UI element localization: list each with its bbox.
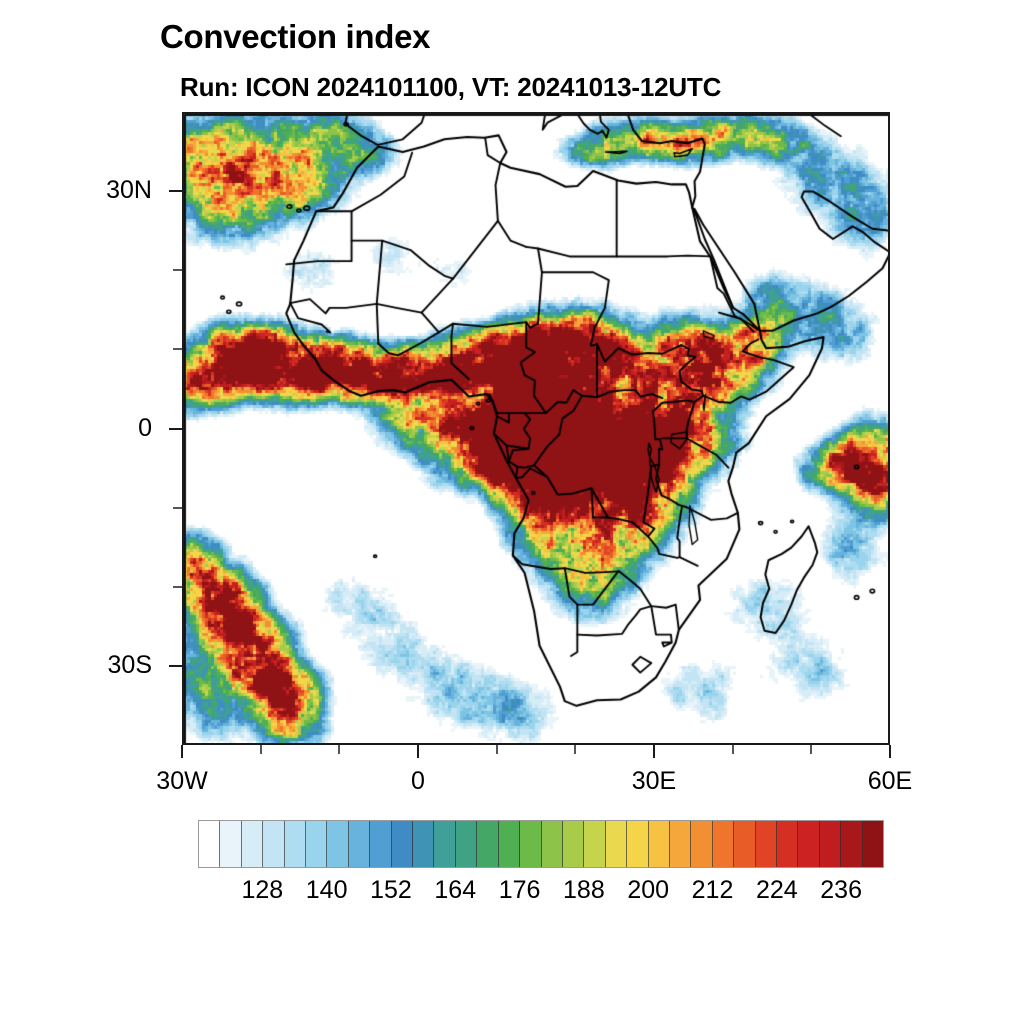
x-tick-minor: [496, 745, 498, 754]
colorbar-cell: [370, 821, 391, 867]
colorbar-cells[interactable]: [198, 820, 884, 868]
colorbar-cell: [863, 821, 883, 867]
colorbar-cell: [713, 821, 734, 867]
colorbar-cell: [649, 821, 670, 867]
y-axis-label: 30N: [32, 176, 152, 205]
colorbar-cell: [456, 821, 477, 867]
map-plot-area[interactable]: [182, 112, 890, 745]
x-axis-label: 30W: [112, 767, 252, 796]
colorbar-cell: [413, 821, 434, 867]
colorbar-cell: [306, 821, 327, 867]
x-tick-major: [653, 745, 655, 758]
y-tick-minor: [173, 348, 182, 350]
colorbar-cell: [327, 821, 348, 867]
x-tick-minor: [574, 745, 576, 754]
colorbar-cell: [563, 821, 584, 867]
colorbar-cell: [520, 821, 541, 867]
colorbar-cell: [756, 821, 777, 867]
x-tick-minor: [260, 745, 262, 754]
colorbar-cell: [263, 821, 284, 867]
colorbar-cell: [477, 821, 498, 867]
colorbar-cell: [584, 821, 605, 867]
y-tick-minor: [173, 586, 182, 588]
colorbar[interactable]: [198, 820, 884, 868]
run-valid-time-subtitle: Run: ICON 2024101100, VT: 20241013-12UTC: [180, 72, 721, 103]
x-axis-label: 60E: [820, 767, 960, 796]
y-tick-minor: [173, 269, 182, 271]
convection-index-heatmap: [184, 114, 890, 745]
colorbar-cell: [691, 821, 712, 867]
x-tick-major: [889, 745, 891, 758]
colorbar-cell: [777, 821, 798, 867]
x-tick-minor: [338, 745, 340, 754]
y-tick-major: [169, 428, 182, 430]
x-axis-label: 0: [348, 767, 488, 796]
colorbar-cell: [670, 821, 691, 867]
colorbar-cell: [798, 821, 819, 867]
colorbar-cell: [627, 821, 648, 867]
colorbar-cell: [392, 821, 413, 867]
colorbar-cell: [499, 821, 520, 867]
colorbar-cell: [542, 821, 563, 867]
page-title: Convection index: [160, 18, 430, 56]
x-tick-minor: [732, 745, 734, 754]
colorbar-cell: [434, 821, 455, 867]
colorbar-cell: [242, 821, 263, 867]
y-axis-label: 0: [32, 414, 152, 443]
x-tick-major: [181, 745, 183, 758]
y-tick-major: [169, 190, 182, 192]
colorbar-cell: [841, 821, 862, 867]
colorbar-cell: [349, 821, 370, 867]
y-axis-label: 30S: [32, 651, 152, 680]
x-tick-minor: [810, 745, 812, 754]
colorbar-cell: [199, 821, 220, 867]
colorbar-cell: [606, 821, 627, 867]
y-tick-minor: [173, 507, 182, 509]
x-axis-label: 30E: [584, 767, 724, 796]
x-tick-major: [417, 745, 419, 758]
colorbar-cell: [820, 821, 841, 867]
colorbar-tick-label: 236: [801, 876, 881, 905]
colorbar-cell: [285, 821, 306, 867]
y-tick-major: [169, 665, 182, 667]
colorbar-cell: [220, 821, 241, 867]
colorbar-cell: [734, 821, 755, 867]
